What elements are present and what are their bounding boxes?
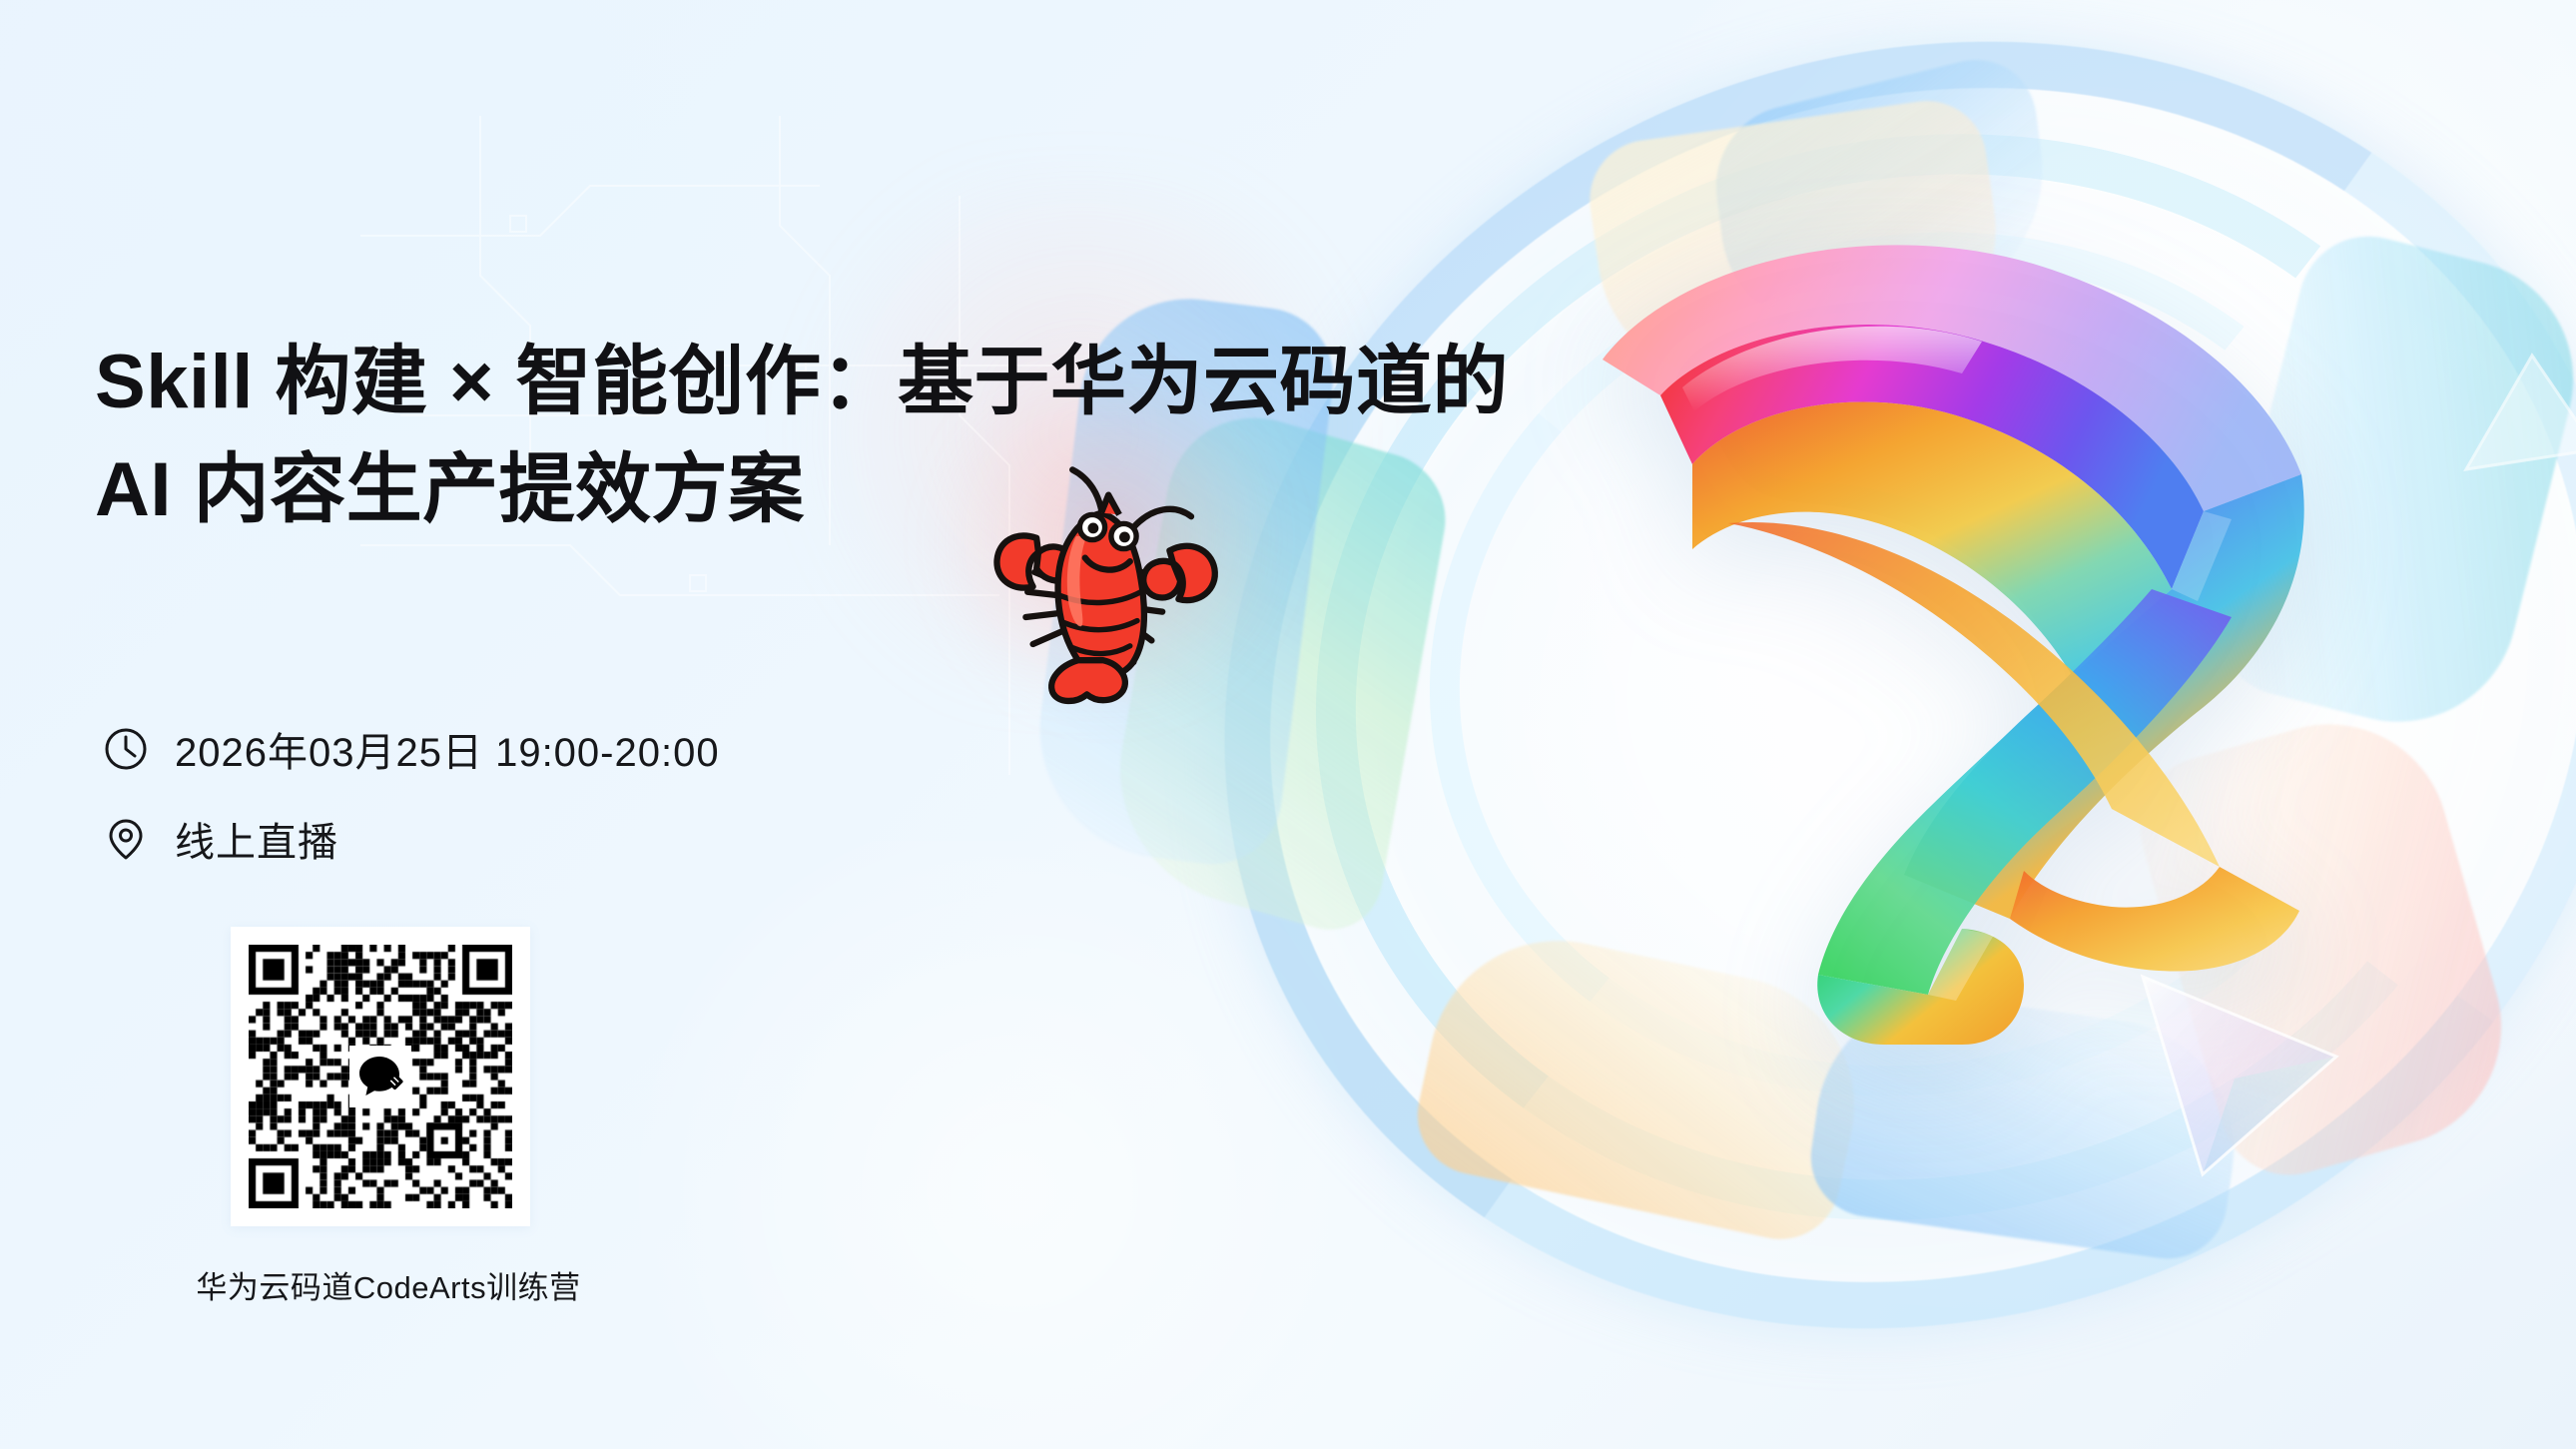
event-location-text: 线上直播 bbox=[175, 810, 338, 868]
event-datetime-row: 2026年03月25日 19:00-20:00 bbox=[103, 717, 1001, 781]
qr-caption: 华为云码道CodeArts训练营 bbox=[189, 1262, 588, 1307]
qr-block: 华为云码道CodeArts训练营 bbox=[231, 927, 630, 1307]
title-line-2: AI 内容生产提效方案 bbox=[95, 436, 1213, 544]
qr-code-card[interactable] bbox=[231, 927, 530, 1226]
clock-icon bbox=[103, 726, 149, 772]
title-line-1: Skill 构建 × 智能创作：基于华为云码道的 bbox=[95, 329, 1213, 436]
location-pin-icon bbox=[103, 816, 149, 862]
page-title: Skill 构建 × 智能创作：基于华为云码道的 AI 内容生产提效方案 bbox=[95, 329, 1213, 544]
event-location-row: 线上直播 bbox=[103, 807, 1001, 871]
wechat-work-bubble-icon bbox=[349, 1046, 411, 1107]
event-meta-list: 2026年03月25日 19:00-20:00 线上直播 bbox=[103, 717, 1001, 897]
event-datetime-text: 2026年03月25日 19:00-20:00 bbox=[175, 720, 720, 778]
event-poster: Skill 构建 × 智能创作：基于华为云码道的 AI 内容生产提效方案 202… bbox=[0, 0, 2576, 1449]
poster-content: Skill 构建 × 智能创作：基于华为云码道的 AI 内容生产提效方案 202… bbox=[95, 0, 1213, 1449]
